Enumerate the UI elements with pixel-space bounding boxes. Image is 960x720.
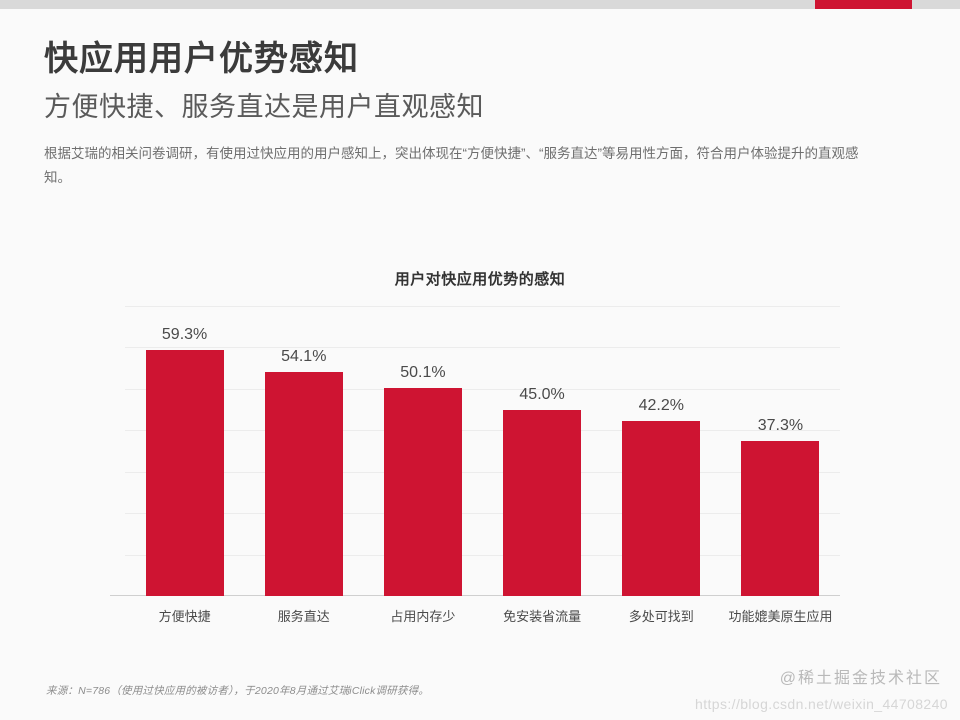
- watermark-brand: @稀土掘金技术社区: [780, 664, 942, 688]
- chart-bar-value-label: 59.3%: [162, 326, 207, 344]
- page-body-paragraph: 根据艾瑞的相关问卷调研，有使用过快应用的用户感知上，突出体现在“方便快捷”、“服…: [44, 142, 880, 190]
- top-accent-red-block: [815, 0, 912, 9]
- chart-bar-value-label: 42.2%: [639, 397, 684, 415]
- chart-x-axis-label: 免安装省流量: [483, 606, 602, 625]
- chart-bar: [146, 350, 224, 596]
- chart-bar-slot: 37.3%: [721, 306, 840, 596]
- chart-bars-group: 59.3%54.1%50.1%45.0%42.2%37.3%: [125, 306, 840, 596]
- chart-bar: [622, 421, 700, 596]
- chart-bar: [265, 372, 343, 596]
- page-title: 快应用用户优势感知: [44, 36, 924, 82]
- chart-bar-value-label: 37.3%: [758, 417, 803, 435]
- chart-bar-value-label: 50.1%: [400, 364, 445, 382]
- chart-x-axis-labels: 方便快捷服务直达占用内存少免安装省流量多处可找到功能媲美原生应用: [125, 606, 840, 625]
- chart-bar: [384, 388, 462, 596]
- chart-bar-value-label: 54.1%: [281, 348, 326, 366]
- chart-bar-value-label: 45.0%: [519, 386, 564, 404]
- chart-bar-slot: 50.1%: [363, 306, 482, 596]
- chart-panel: 用户对快应用优势的感知 59.3%54.1%50.1%45.0%42.2%37.…: [0, 258, 960, 648]
- source-note: 来源：N=786（使用过快应用的被访者），于2020年8月通过艾瑞iClick调…: [46, 683, 429, 698]
- chart-x-axis-label: 占用内存少: [363, 606, 482, 625]
- page-subtitle: 方便快捷、服务直达是用户直观感知: [44, 86, 924, 128]
- header-block: 快应用用户优势感知 方便快捷、服务直达是用户直观感知 根据艾瑞的相关问卷调研，有…: [44, 36, 924, 190]
- chart-x-axis-label: 方便快捷: [125, 606, 244, 625]
- chart-x-axis-label: 服务直达: [244, 606, 363, 625]
- chart-x-axis-label: 多处可找到: [602, 606, 721, 625]
- chart-bar-slot: 54.1%: [244, 306, 363, 596]
- chart-x-axis-label: 功能媲美原生应用: [721, 606, 840, 625]
- watermark-url: https://blog.csdn.net/weixin_44708240: [695, 696, 948, 712]
- chart-title: 用户对快应用优势的感知: [0, 268, 960, 289]
- chart-bar-slot: 42.2%: [602, 306, 721, 596]
- chart-bar-slot: 45.0%: [483, 306, 602, 596]
- chart-bar: [741, 441, 819, 596]
- chart-bar: [503, 410, 581, 596]
- chart-plot-area: 59.3%54.1%50.1%45.0%42.2%37.3%: [125, 306, 840, 596]
- chart-bar-slot: 59.3%: [125, 306, 244, 596]
- top-accent-strip: [0, 0, 960, 9]
